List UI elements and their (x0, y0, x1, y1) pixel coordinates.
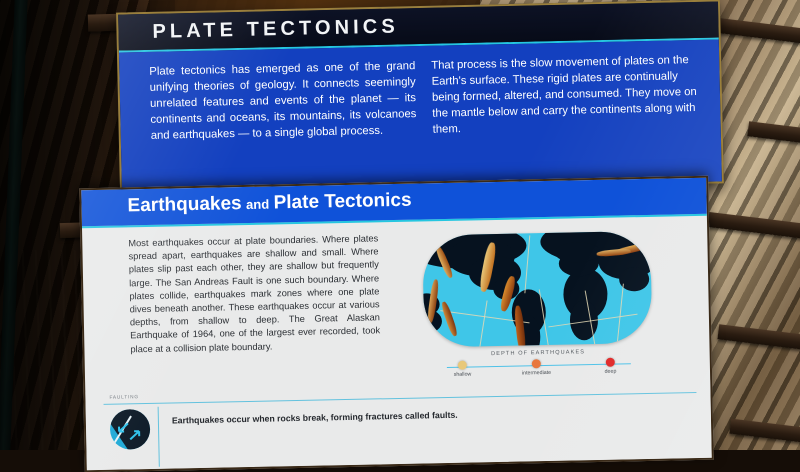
divider (104, 392, 697, 405)
legend-label: intermediate (506, 370, 566, 377)
shallow-dot-icon (458, 361, 467, 370)
panel-heading: Earthquakes and Plate Tectonics (127, 190, 411, 218)
panel-body: Plate tectonics has emerged as one of th… (119, 39, 722, 194)
legend-item-deep: deep (580, 357, 640, 375)
plate-boundary (616, 284, 623, 344)
divider (158, 407, 161, 467)
body-column-left: Plate tectonics has emerged as one of th… (149, 58, 418, 194)
depth-legend: shallow intermediate deep (438, 357, 638, 383)
map-caption: DEPTH OF EARTHQUAKES (491, 349, 585, 357)
world-map (422, 231, 652, 348)
legend-item-intermediate: intermediate (506, 359, 566, 377)
earthquake-map-figure: DEPTH OF EARTHQUAKES shallow intermediat… (378, 226, 696, 384)
page-title: PLATE TECTONICS (152, 15, 399, 43)
deep-dot-icon (606, 358, 615, 367)
fault-icon-arrows (110, 409, 151, 450)
legend-label: shallow (432, 371, 492, 378)
fault-shear-icon (110, 409, 151, 450)
faulting-text: Earthquakes occur when rocks break, form… (172, 409, 472, 427)
intermediate-dot-icon (532, 359, 541, 368)
heading-part-3: Plate Tectonics (273, 190, 411, 214)
heading-part-2: and (246, 197, 269, 212)
plate-tectonics-panel: PLATE TECTONICS Plate tectonics has emer… (116, 0, 724, 197)
earthquakes-panel: Earthquakes and Plate Tectonics Most ear… (79, 176, 714, 472)
legend-label: deep (580, 368, 640, 375)
body-column-right: That process is the slow movement of pla… (431, 52, 700, 188)
body-paragraph: Most earthquakes occur at plate boundari… (128, 232, 381, 389)
panel-body: Most earthquakes occur at plate boundari… (82, 216, 710, 391)
plate-boundary (477, 301, 487, 348)
quake-band-indonesia (440, 301, 458, 337)
faulting-tag: FAULTING (109, 395, 139, 401)
heading-part-1: Earthquakes (127, 193, 241, 216)
legend-item-shallow: shallow (432, 360, 492, 378)
faulting-section: FAULTING Earthquakes occur when rocks br… (85, 380, 711, 471)
